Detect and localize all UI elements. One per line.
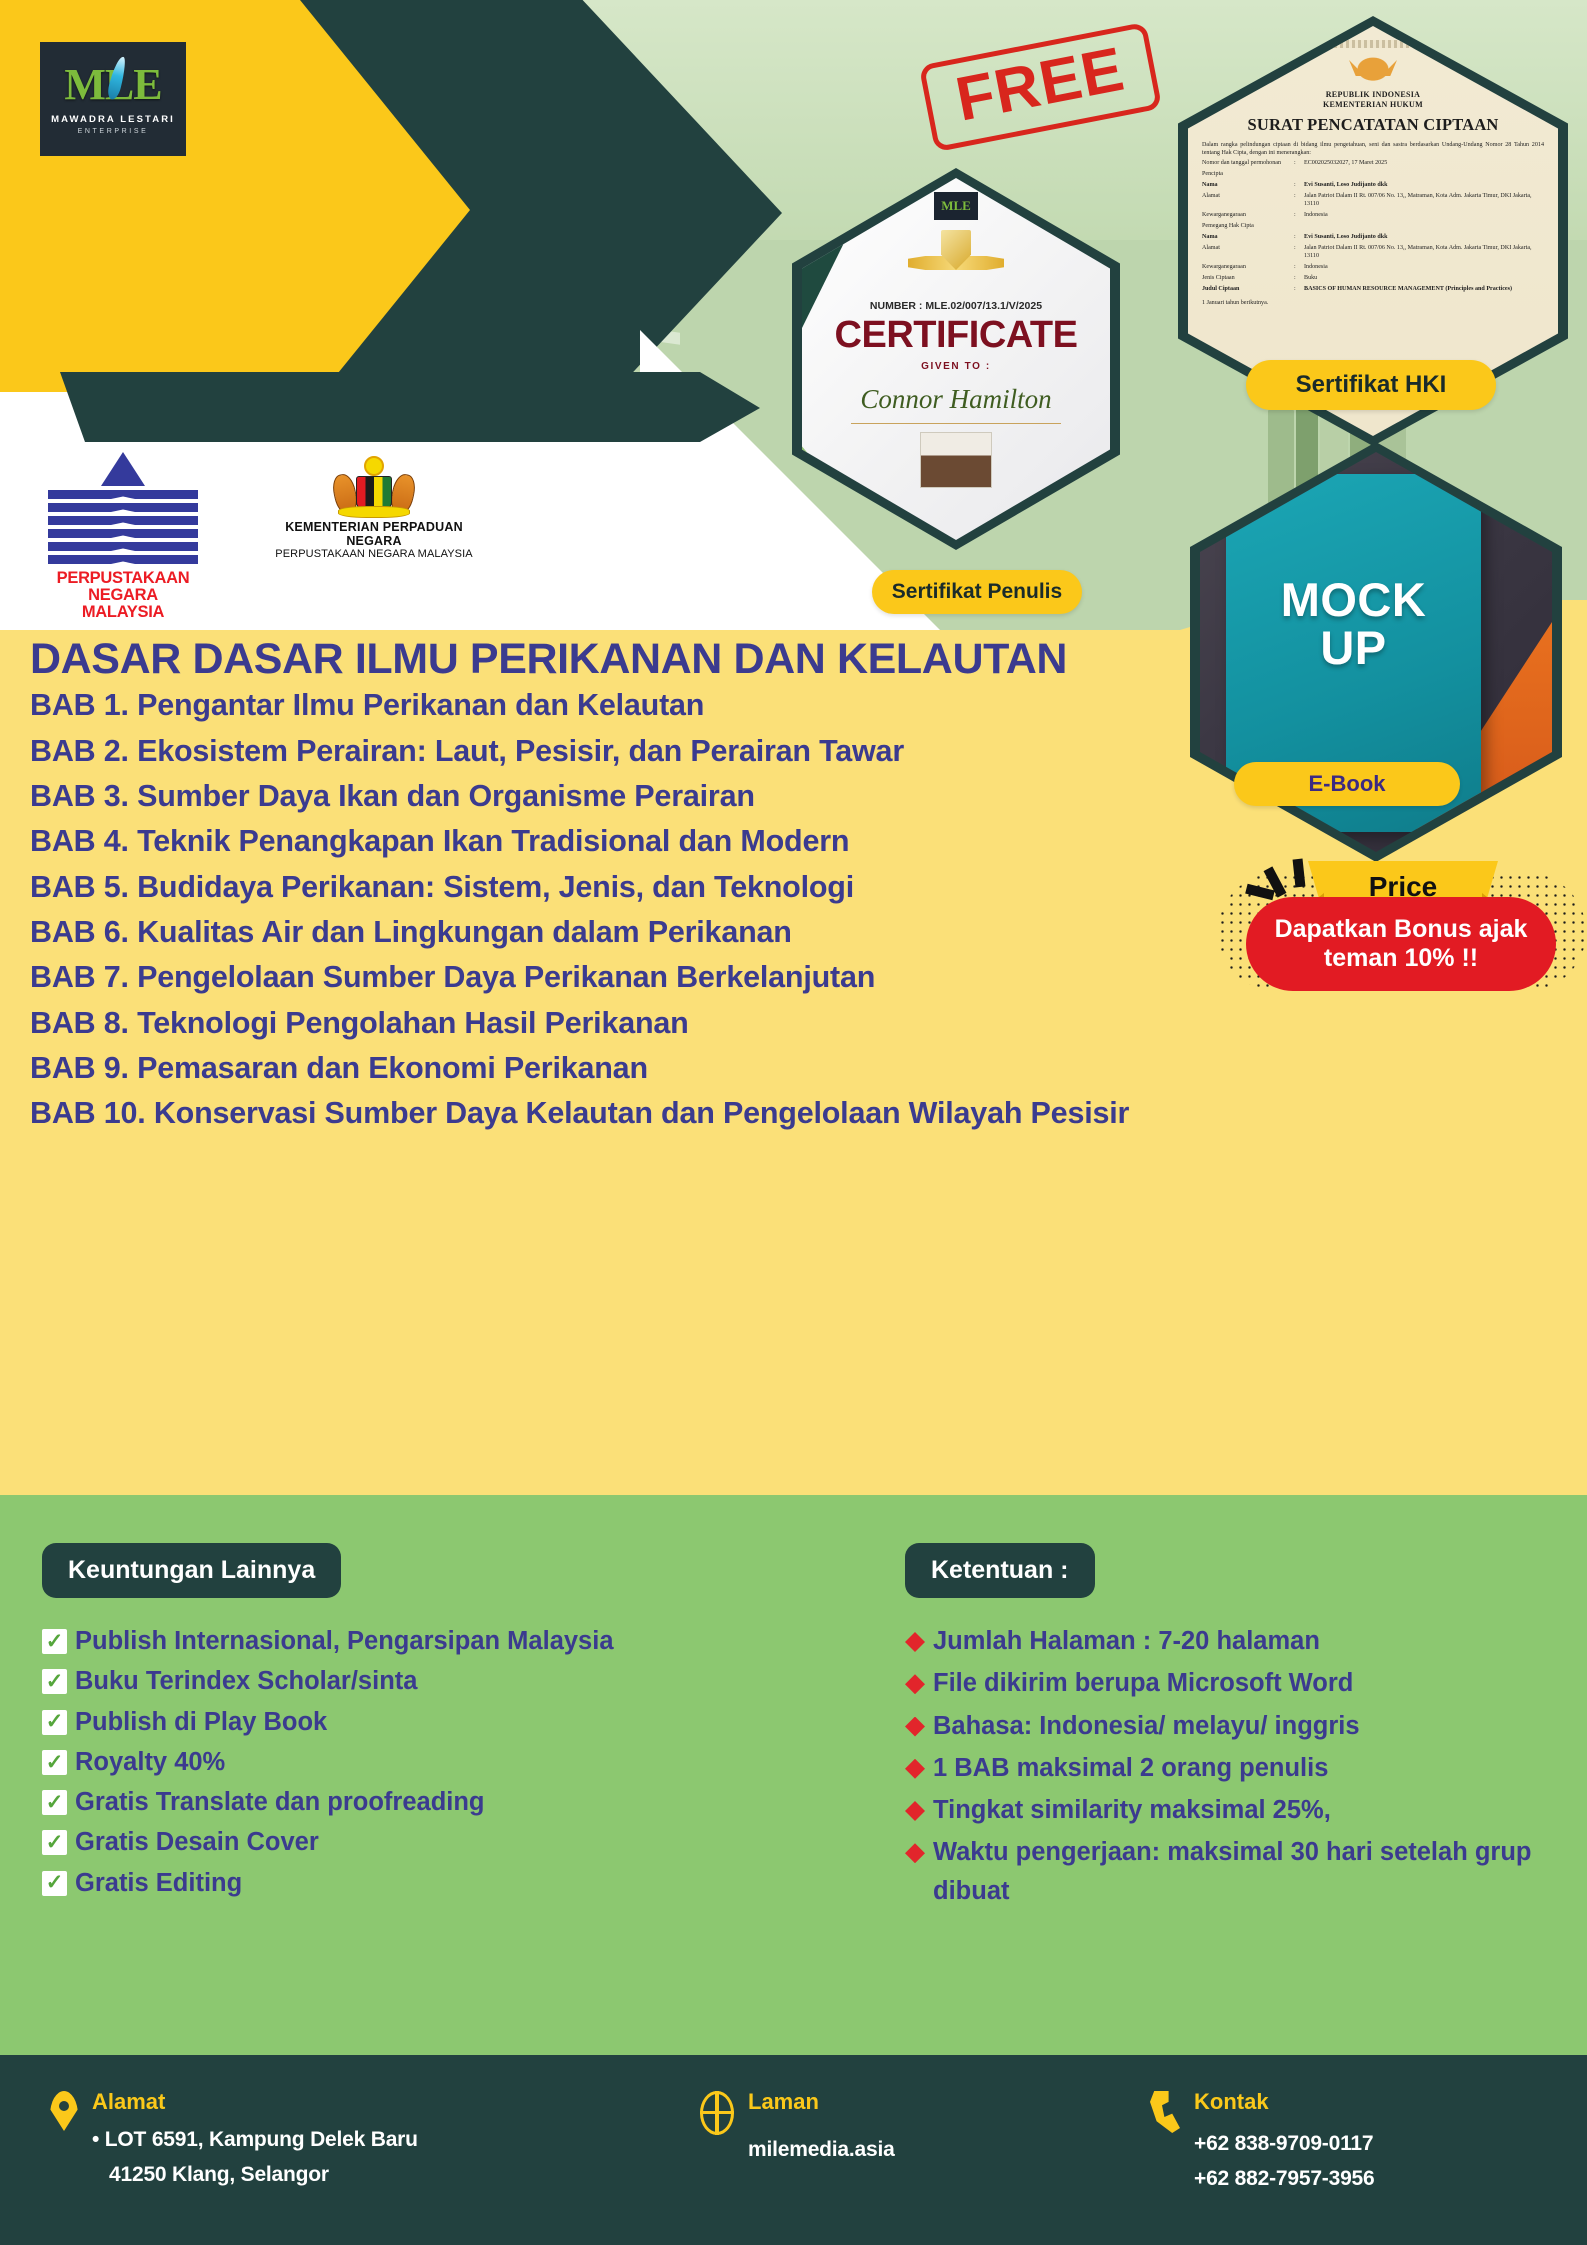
check-icon: ✓ bbox=[42, 1790, 67, 1815]
crescent-moon-icon bbox=[364, 456, 384, 476]
diamond-bullet-icon bbox=[905, 1759, 925, 1779]
hki-row-colon: : bbox=[1294, 193, 1304, 209]
pnm-label-line1: PERPUSTAKAAN bbox=[48, 570, 198, 587]
hki-row-value: BASICS OF HUMAN RESOURCE MANAGEMENT (Pri… bbox=[1304, 286, 1544, 294]
check-icon: ✓ bbox=[42, 1750, 67, 1775]
hki-row-label: Nama bbox=[1202, 234, 1294, 242]
pnm-bar bbox=[48, 542, 198, 551]
term-item-label: Waktu pengerjaan: maksimal 30 hari setel… bbox=[933, 1833, 1565, 1910]
pnm-bar bbox=[48, 490, 198, 499]
spark-icon bbox=[1293, 859, 1306, 888]
hki-detail-row: Nama:Evi Susanti, Loso Judijanto dkk bbox=[1202, 234, 1544, 242]
term-item: Waktu pengerjaan: maksimal 30 hari setel… bbox=[905, 1833, 1565, 1910]
phone-icon bbox=[1150, 2091, 1180, 2133]
hki-paragraph: Dalam rangka pelindungan ciptaan di bida… bbox=[1202, 141, 1544, 157]
badge-sertifikat-penulis[interactable]: Sertifikat Penulis bbox=[872, 570, 1082, 614]
certificate-divider bbox=[851, 423, 1061, 424]
footer-address-line1: LOT 6591, Kampung Delek Baru bbox=[92, 2123, 418, 2158]
footer-contact-title: Kontak bbox=[1194, 2089, 1375, 2115]
price-bonus-banner: Dapatkan Bonus ajak teman 10% !! bbox=[1246, 897, 1556, 991]
mockup-word-2: UP bbox=[1320, 624, 1386, 672]
hki-row-value bbox=[1304, 223, 1544, 231]
footer-contact-block: Kontak +62 838-9709-0117 +62 882-7957-39… bbox=[1150, 2089, 1375, 2196]
hki-row-colon bbox=[1294, 171, 1304, 179]
author-certificate-image: NUMBER : MLE.02/007/13.1/V/2025 CERTIFIC… bbox=[802, 178, 1110, 540]
certificate-word: CERTIFICATE bbox=[835, 314, 1078, 357]
badge-ebook[interactable]: E-Book bbox=[1234, 762, 1460, 806]
hki-detail-row: Nomor dan tanggal permohonan:EC002025032… bbox=[1202, 160, 1544, 168]
hki-ministry: KEMENTERIAN HUKUM bbox=[1202, 100, 1544, 110]
hki-detail-row: Alamat:Jalan Patriot Dalam II Rt. 007/06… bbox=[1202, 245, 1544, 261]
footer-address-block: Alamat LOT 6591, Kampung Delek Baru 4125… bbox=[50, 2089, 418, 2192]
hki-row-label: Jenis Ciptaan bbox=[1202, 275, 1294, 283]
hki-row-colon: : bbox=[1294, 212, 1304, 220]
hki-row-colon: : bbox=[1294, 182, 1304, 190]
hki-detail-row: Judul Ciptaan:BASICS OF HUMAN RESOURCE M… bbox=[1202, 286, 1544, 294]
term-item: 1 BAB maksimal 2 orang penulis bbox=[905, 1749, 1565, 1787]
term-item-label: Jumlah Halaman : 7-20 halaman bbox=[933, 1622, 1565, 1660]
footer-web-block: Laman milemedia.asia bbox=[700, 2089, 895, 2168]
terms-column: Ketentuan : Jumlah Halaman : 7-20 halama… bbox=[905, 1543, 1565, 1910]
kpn-label-line2: PERPUSTAKAAN NEGARA MALAYSIA bbox=[262, 548, 486, 560]
badge-sertifikat-hki[interactable]: Sertifikat HKI bbox=[1246, 360, 1496, 410]
hki-detail-row: Pemegang Hak Cipta bbox=[1202, 223, 1544, 231]
certificate-mle-logo-icon bbox=[934, 192, 978, 220]
diamond-bullet-icon bbox=[905, 1717, 925, 1737]
mockup-word-1: MOCK bbox=[1281, 576, 1427, 624]
hki-row-label: Alamat bbox=[1202, 245, 1294, 261]
benefit-item: ✓Royalty 40% bbox=[42, 1743, 802, 1781]
benefit-item: ✓Buku Terindex Scholar/sinta bbox=[42, 1662, 802, 1700]
certificate-number: NUMBER : MLE.02/007/13.1/V/2025 bbox=[870, 300, 1042, 312]
hki-row-colon: : bbox=[1294, 264, 1304, 272]
mle-logo: MLE MAWADRA LESTARI ENTERPRISE bbox=[40, 42, 186, 156]
jata-negara-icon bbox=[328, 456, 420, 518]
benefits-heading: Keuntungan Lainnya bbox=[42, 1543, 341, 1598]
hki-row-colon bbox=[1294, 223, 1304, 231]
benefit-item: ✓Gratis Translate dan proofreading bbox=[42, 1783, 802, 1821]
certificate-book-thumbnail bbox=[920, 432, 992, 488]
ribbon-icon bbox=[338, 506, 410, 518]
shield-icon bbox=[356, 476, 392, 510]
hki-row-label: Kewarganegaraan bbox=[1202, 212, 1294, 220]
hki-row-label: Nomor dan tanggal permohonan bbox=[1202, 160, 1294, 168]
term-item: Bahasa: Indonesia/ melayu/ inggris bbox=[905, 1707, 1565, 1745]
check-icon: ✓ bbox=[42, 1629, 67, 1654]
benefits-list: ✓Publish Internasional, Pengarsipan Mala… bbox=[42, 1622, 802, 1902]
hki-row-value: EC002025032027, 17 Maret 2025 bbox=[1304, 160, 1544, 168]
pnm-bar bbox=[48, 555, 198, 564]
award-shield-icon bbox=[908, 230, 1004, 292]
term-item: Jumlah Halaman : 7-20 halaman bbox=[905, 1622, 1565, 1660]
mle-logo-company: MAWADRA LESTARI bbox=[51, 114, 175, 125]
diamond-bullet-icon bbox=[905, 1843, 925, 1863]
hki-footer-note: 1 Januari tahun berikutnya. bbox=[1202, 299, 1544, 307]
hki-row-value: Jalan Patriot Dalam II Rt. 007/06 No. 13… bbox=[1304, 245, 1544, 261]
price-burst: Price Dapatkan Bonus ajak teman 10% !! bbox=[1218, 845, 1586, 1005]
benefit-item-label: Publish Internasional, Pengarsipan Malay… bbox=[75, 1622, 802, 1660]
check-icon: ✓ bbox=[42, 1830, 67, 1855]
hki-row-value: Indonesia bbox=[1304, 212, 1544, 220]
pnm-bar bbox=[48, 503, 198, 512]
hki-row-value: Evi Susanti, Loso Judijanto dkk bbox=[1304, 182, 1544, 190]
price-bonus-line2: teman 10% !! bbox=[1324, 944, 1478, 973]
hki-row-label: Nama bbox=[1202, 182, 1294, 190]
footer-web-value[interactable]: milemedia.asia bbox=[748, 2133, 895, 2168]
chapter-item: BAB 10. Konservasi Sumber Daya Kelautan … bbox=[30, 1092, 1559, 1135]
book-title: DASAR DASAR ILMU PERIKANAN DAN KELAUTAN bbox=[30, 636, 1100, 682]
benefit-item-label: Royalty 40% bbox=[75, 1743, 802, 1781]
pnm-bar bbox=[48, 516, 198, 525]
hki-row-value bbox=[1304, 171, 1544, 179]
hki-detail-row: Nama:Evi Susanti, Loso Judijanto dkk bbox=[1202, 182, 1544, 190]
benefit-item-label: Publish di Play Book bbox=[75, 1703, 802, 1741]
benefit-item: ✓Gratis Editing bbox=[42, 1864, 802, 1902]
benefit-item: ✓Publish Internasional, Pengarsipan Mala… bbox=[42, 1622, 802, 1660]
perpustakaan-negara-logo: PERPUSTAKAAN NEGARA MALAYSIA bbox=[48, 452, 198, 620]
garuda-crest-icon bbox=[1345, 52, 1401, 90]
certificate-given-to: GIVEN TO : bbox=[921, 361, 991, 372]
dark-wedge-band bbox=[60, 372, 760, 442]
hki-row-label: Pencipta bbox=[1202, 171, 1294, 179]
hki-row-colon: : bbox=[1294, 286, 1304, 294]
globe-icon bbox=[700, 2091, 734, 2135]
hki-detail-row: Kewarganegaraan:Indonesia bbox=[1202, 264, 1544, 272]
hki-row-value: Buku bbox=[1304, 275, 1544, 283]
term-item-label: Bahasa: Indonesia/ melayu/ inggris bbox=[933, 1707, 1565, 1745]
location-pin-icon bbox=[50, 2091, 78, 2131]
footer-address-line2: 41250 Klang, Selangor bbox=[92, 2158, 418, 2193]
terms-heading: Ketentuan : bbox=[905, 1543, 1095, 1598]
term-item-label: File dikirim berupa Microsoft Word bbox=[933, 1664, 1565, 1702]
price-bonus-line1: Dapatkan Bonus ajak bbox=[1275, 915, 1528, 944]
footer: Alamat LOT 6591, Kampung Delek Baru 4125… bbox=[0, 2055, 1587, 2245]
term-item: File dikirim berupa Microsoft Word bbox=[905, 1664, 1565, 1702]
hki-row-colon: : bbox=[1294, 275, 1304, 283]
hki-detail-row: Jenis Ciptaan:Buku bbox=[1202, 275, 1544, 283]
diamond-bullet-icon bbox=[905, 1801, 925, 1821]
check-icon: ✓ bbox=[42, 1871, 67, 1896]
pnm-bar bbox=[48, 529, 198, 538]
hki-detail-row: Pencipta bbox=[1202, 171, 1544, 179]
hki-row-colon: : bbox=[1294, 234, 1304, 242]
hki-row-label: Pemegang Hak Cipta bbox=[1202, 223, 1294, 231]
diamond-bullet-icon bbox=[905, 1674, 925, 1694]
term-item-label: 1 BAB maksimal 2 orang penulis bbox=[933, 1749, 1565, 1787]
hki-row-value: Evi Susanti, Loso Judijanto dkk bbox=[1304, 234, 1544, 242]
hki-title: SURAT PENCATATAN CIPTAAN bbox=[1202, 115, 1544, 135]
footer-phone-2[interactable]: +62 882-7957-3956 bbox=[1194, 2162, 1375, 2197]
hki-republic: REPUBLIK INDONESIA bbox=[1202, 90, 1544, 100]
benefit-item-label: Buku Terindex Scholar/sinta bbox=[75, 1662, 802, 1700]
certificate-recipient-name: Connor Hamilton bbox=[860, 384, 1051, 415]
kpn-label-line1: KEMENTERIAN PERPADUAN NEGARA bbox=[262, 520, 486, 548]
pnm-label-line2: NEGARA MALAYSIA bbox=[48, 587, 198, 621]
terms-list: Jumlah Halaman : 7-20 halamanFile dikiri… bbox=[905, 1622, 1565, 1910]
chapter-item: BAB 8. Teknologi Pengolahan Hasil Perika… bbox=[30, 1002, 1559, 1045]
footer-phone-1[interactable]: +62 838-9709-0117 bbox=[1194, 2127, 1375, 2162]
check-icon: ✓ bbox=[42, 1710, 67, 1735]
hki-row-label: Judul Ciptaan bbox=[1202, 286, 1294, 294]
benefit-item-label: Gratis Desain Cover bbox=[75, 1823, 802, 1861]
check-icon: ✓ bbox=[42, 1669, 67, 1694]
benefit-item-label: Gratis Editing bbox=[75, 1864, 802, 1902]
hki-row-value: Indonesia bbox=[1304, 264, 1544, 272]
benefits-column: Keuntungan Lainnya ✓Publish Internasiona… bbox=[42, 1543, 802, 1902]
footer-address-title: Alamat bbox=[92, 2089, 418, 2115]
term-item-label: Tingkat similarity maksimal 25%, bbox=[933, 1791, 1565, 1829]
pnm-triangle-icon bbox=[101, 452, 145, 486]
hki-row-value: Jalan Patriot Dalam II Rt. 007/06 No. 13… bbox=[1304, 193, 1544, 209]
benefit-item-label: Gratis Translate dan proofreading bbox=[75, 1783, 802, 1821]
hki-detail-rows: Nomor dan tanggal permohonan:EC002025032… bbox=[1202, 160, 1544, 293]
benefits-section: Keuntungan Lainnya ✓Publish Internasiona… bbox=[0, 1495, 1587, 2055]
mle-logo-subtitle: ENTERPRISE bbox=[78, 128, 149, 135]
hki-row-label: Alamat bbox=[1202, 193, 1294, 209]
term-item: Tingkat similarity maksimal 25%, bbox=[905, 1791, 1565, 1829]
kementerian-perpaduan-logo: KEMENTERIAN PERPADUAN NEGARA PERPUSTAKAA… bbox=[258, 452, 490, 566]
chapter-item: BAB 9. Pemasaran dan Ekonomi Perikanan bbox=[30, 1047, 1559, 1090]
hki-detail-row: Kewarganegaraan:Indonesia bbox=[1202, 212, 1544, 220]
pnm-label: PERPUSTAKAAN NEGARA MALAYSIA bbox=[48, 570, 198, 620]
hki-row-colon: : bbox=[1294, 160, 1304, 168]
benefit-item: ✓Publish di Play Book bbox=[42, 1703, 802, 1741]
benefit-item: ✓Gratis Desain Cover bbox=[42, 1823, 802, 1861]
hki-row-colon: : bbox=[1294, 245, 1304, 261]
footer-web-title: Laman bbox=[748, 2089, 895, 2115]
hki-row-label: Kewarganegaraan bbox=[1202, 264, 1294, 272]
hki-detail-row: Alamat:Jalan Patriot Dalam II Rt. 007/06… bbox=[1202, 193, 1544, 209]
diamond-bullet-icon bbox=[905, 1632, 925, 1652]
mle-logo-mark: MLE bbox=[64, 63, 161, 107]
